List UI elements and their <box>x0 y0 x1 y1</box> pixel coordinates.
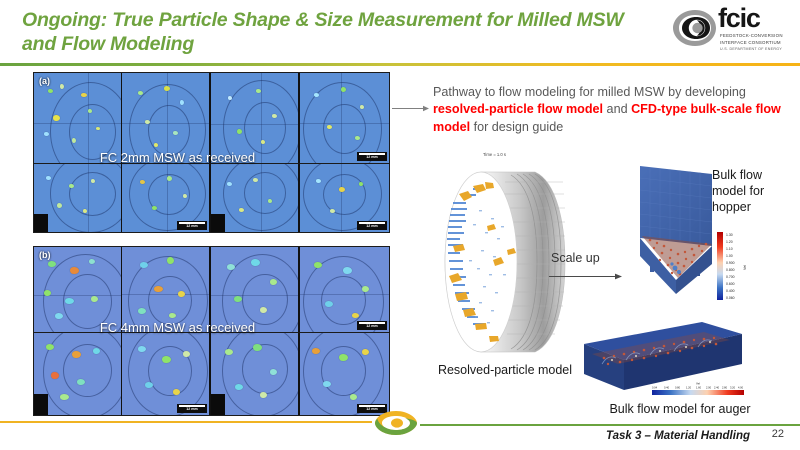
footer-task-label: Task 3 – Material Handling <box>606 430 750 442</box>
svg-text:2.80: 2.80 <box>722 386 728 390</box>
svg-text:0.900: 0.900 <box>726 261 735 265</box>
pathway-arrow-icon <box>392 104 430 113</box>
particle-tile: 12 mm <box>300 164 389 232</box>
footer-divider-left <box>0 421 372 423</box>
svg-text:1.60: 1.60 <box>696 386 702 390</box>
scale-bar-label: 12 mm <box>366 325 377 329</box>
scale-bar: 12 mm <box>357 221 387 230</box>
fcic-wordmark: fcic <box>718 5 760 32</box>
simulation-time-label: Time = 1.0 s <box>483 152 506 157</box>
scale-bar-label: 12 mm <box>186 225 197 229</box>
fcic-subtitle: FEEDSTOCK-CONVERSION INTERFACE CONSORTIU… <box>720 33 796 46</box>
svg-text:0.800: 0.800 <box>726 268 735 272</box>
fcic-eye-mark <box>672 8 718 48</box>
header-divider <box>0 63 800 66</box>
hopper-simulation-render <box>626 160 726 305</box>
scale-bar: 12 mm <box>177 404 207 413</box>
footer-divider-right <box>420 424 800 426</box>
svg-text:0.600: 0.600 <box>726 282 735 286</box>
scale-bar-label: 12 mm <box>366 225 377 229</box>
scale-up-arrow-icon <box>549 272 623 281</box>
scale-bar-label: 12 mm <box>186 408 197 412</box>
panel-tag-a: (a) <box>39 76 50 86</box>
scale-bar-label: 12 mm <box>366 156 377 160</box>
scale-bar: 12 mm <box>357 152 387 161</box>
svg-text:0.400: 0.400 <box>726 289 735 293</box>
svg-text:1.20: 1.20 <box>726 240 733 244</box>
fcic-agency: U.S. DEPARTMENT OF ENERGY <box>720 47 782 51</box>
svg-text:0.060: 0.060 <box>726 296 735 300</box>
fcic-subtitle-line2: INTERFACE CONSORTIUM <box>720 40 781 45</box>
panel-tag-b: (b) <box>39 250 51 260</box>
caption-panel-a: FC 2mm MSW as received <box>0 150 355 165</box>
svg-text:1.30: 1.30 <box>726 233 733 237</box>
resolved-model-caption: Resolved-particle model <box>405 363 605 377</box>
page-title: Ongoing: True Particle Shape & Size Meas… <box>22 8 642 57</box>
svg-text:0.700: 0.700 <box>726 275 735 279</box>
svg-text:3.20: 3.20 <box>730 386 736 390</box>
svg-text:4.00: 4.00 <box>738 386 744 390</box>
svg-text:1.10: 1.10 <box>726 247 733 251</box>
auger-model-caption: Bulk flow model for auger <box>560 402 800 416</box>
pathway-description: Pathway to flow modeling for milled MSW … <box>433 84 789 136</box>
auger-colorbar: Vel 0.04 0.40 0.80 1.20 1.60 2.00 2.40 2… <box>650 381 746 397</box>
page-number: 22 <box>772 428 784 440</box>
particle-tile: 12 mm <box>122 164 209 232</box>
pathway-seg1: Pathway to flow modeling for milled MSW … <box>433 85 746 99</box>
particle-image-row-a-bottom: 12 mm 12 mm <box>33 163 390 233</box>
svg-text:2.00: 2.00 <box>706 386 712 390</box>
pathway-highlight-resolved: resolved-particle flow model <box>433 102 603 116</box>
fcic-subtitle-line1: FEEDSTOCK-CONVERSION <box>720 33 783 38</box>
pathway-seg2: and <box>603 102 631 116</box>
particle-tile <box>211 333 298 415</box>
particle-tile <box>211 164 298 232</box>
particle-tile <box>34 164 121 232</box>
scale-bar: 12 mm <box>357 321 387 330</box>
svg-text:Vel: Vel <box>696 381 700 385</box>
particle-tile <box>34 333 121 415</box>
fcic-logo: fcic FEEDSTOCK-CONVERSION INTERFACE CONS… <box>672 6 794 58</box>
svg-text:2.40: 2.40 <box>714 386 720 390</box>
svg-text:1.20: 1.20 <box>686 386 692 390</box>
svg-text:0.80: 0.80 <box>675 386 681 390</box>
hopper-model-caption: Bulk flow model for hopper <box>712 168 792 216</box>
svg-text:1.00: 1.00 <box>726 254 733 258</box>
particle-image-row-b-bottom: 12 mm 12 mm <box>33 332 390 416</box>
scale-up-label: Scale up <box>551 251 600 265</box>
scale-bar: 12 mm <box>177 221 207 230</box>
svg-text:0.40: 0.40 <box>664 386 670 390</box>
footer-eye-logo <box>372 408 420 438</box>
particle-tile: 12 mm <box>122 333 209 415</box>
pathway-seg3: for design guide <box>470 120 563 134</box>
svg-text:0.04: 0.04 <box>652 386 658 390</box>
hopper-colorbar: 1.30 1.20 1.10 1.00 0.900 0.800 0.700 0.… <box>716 230 750 302</box>
particle-tile: 12 mm <box>300 333 389 415</box>
caption-panel-b: FC 4mm MSW as received <box>0 320 355 335</box>
svg-text:Vel: Vel <box>743 265 747 270</box>
